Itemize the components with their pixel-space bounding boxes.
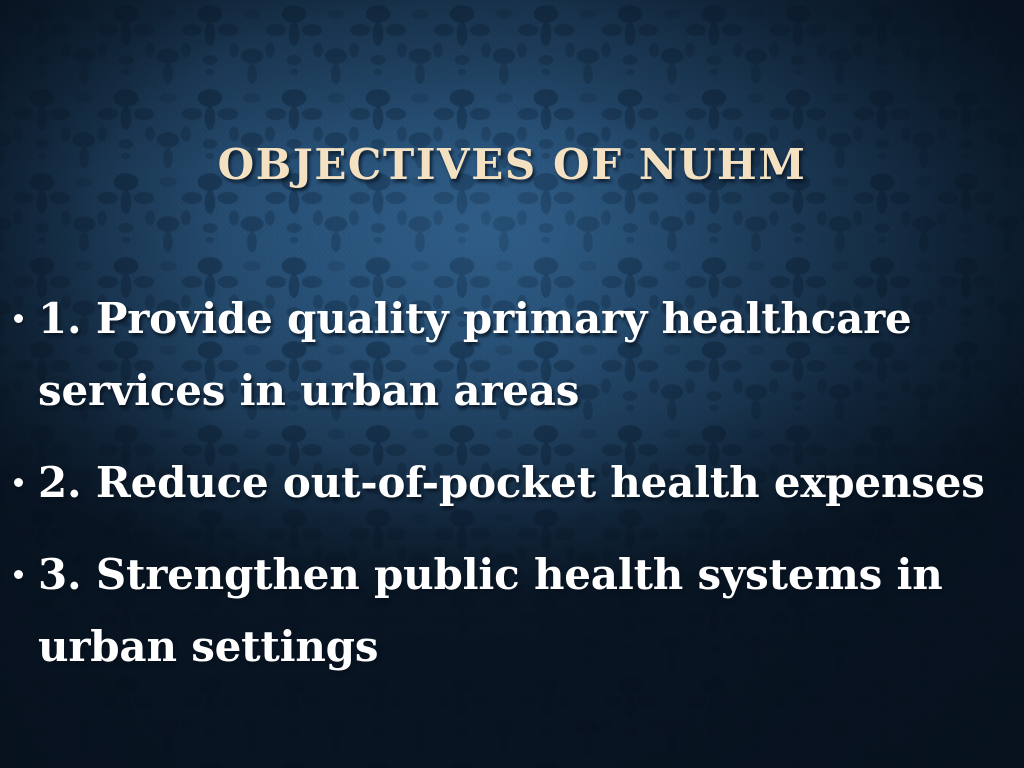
presentation-slide: Objectives of NUHM 1. Provide quality pr…	[0, 0, 1024, 768]
bullet-item-3: 3. Strengthen public health systems in u…	[0, 539, 1024, 683]
bullet-dot-icon	[14, 478, 23, 487]
bullet-item-2: 2. Reduce out-of-pocket health expenses	[0, 447, 1024, 519]
bullet-dot-icon	[14, 314, 23, 323]
bullet-item-1: 1. Provide quality primary healthcare se…	[0, 283, 1024, 427]
bullet-dot-icon	[14, 570, 23, 579]
bullet-item-3-text: 3. Strengthen public health systems in u…	[38, 539, 986, 683]
slide-content: Objectives of NUHM 1. Provide quality pr…	[0, 0, 1024, 768]
objectives-bullet-list: 1. Provide quality primary healthcare se…	[0, 283, 1024, 703]
bullet-item-2-text: 2. Reduce out-of-pocket health expenses	[38, 447, 986, 519]
slide-title: Objectives of NUHM	[0, 144, 1024, 186]
bullet-item-1-text: 1. Provide quality primary healthcare se…	[38, 283, 986, 427]
